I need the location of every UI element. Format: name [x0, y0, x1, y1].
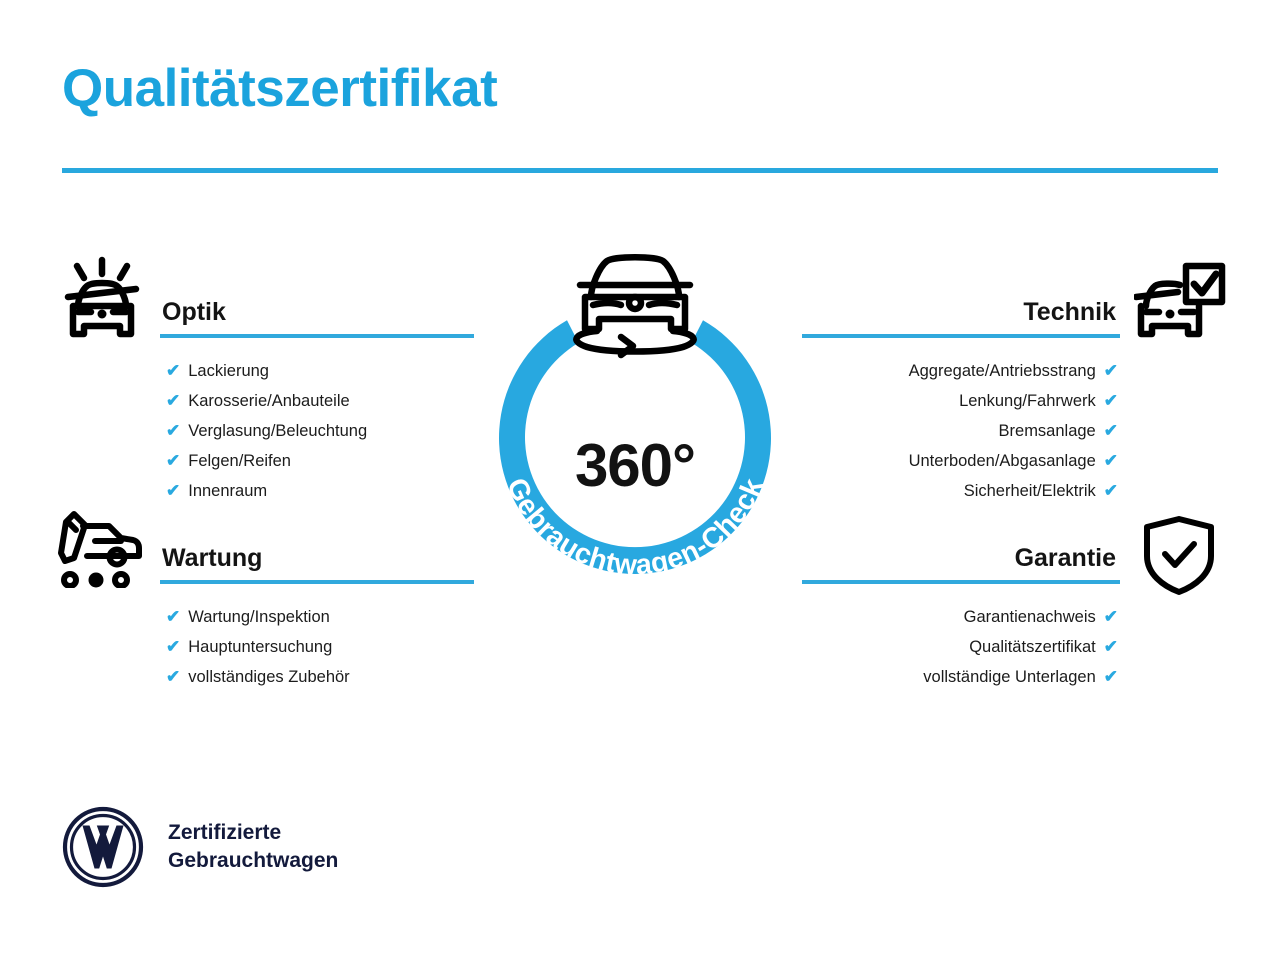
check-icon: ✔ — [166, 602, 180, 632]
list-item: ✔vollständiges Zubehör — [158, 662, 578, 692]
section-divider-technik — [802, 334, 1120, 338]
list-item: Lenkung/Fahrwerk✔ — [700, 386, 1120, 416]
list-item-label: Qualitätszertifikat — [969, 632, 1096, 662]
list-item: Qualitätszertifikat✔ — [700, 632, 1120, 662]
checklist-wartung: ✔Wartung/Inspektion ✔Hauptuntersuchung ✔… — [158, 602, 578, 692]
page-title: Qualitätszertifikat — [62, 60, 497, 118]
check-icon: ✔ — [1104, 602, 1118, 632]
section-header-garantie: Garantie — [700, 542, 1120, 588]
check-icon: ✔ — [166, 446, 180, 476]
section-header-technik: Technik — [700, 296, 1120, 342]
section-title-garantie: Garantie — [700, 542, 1120, 574]
list-item: ✔Karosserie/Anbauteile — [158, 386, 578, 416]
list-item: ✔Verglasung/Beleuchtung — [158, 416, 578, 446]
check-icon: ✔ — [1104, 386, 1118, 416]
check-icon: ✔ — [1104, 416, 1118, 446]
list-item-label: Aggregate/Antriebsstrang — [909, 356, 1096, 386]
list-item: Bremsanlage✔ — [700, 416, 1120, 446]
car-wrench-icon — [57, 508, 145, 593]
check-icon: ✔ — [1104, 356, 1118, 386]
list-item: ✔Felgen/Reifen — [158, 446, 578, 476]
footer-line-2: Gebrauchtwagen — [168, 847, 338, 875]
list-item-label: Karosserie/Anbauteile — [188, 386, 349, 416]
section-header-wartung: Wartung — [158, 542, 578, 588]
list-item-label: Bremsanlage — [999, 416, 1096, 446]
shield-check-icon — [1141, 514, 1217, 601]
check-icon: ✔ — [1104, 632, 1118, 662]
check-icon: ✔ — [166, 386, 180, 416]
list-item-label: Unterboden/Abgasanlage — [909, 446, 1096, 476]
list-item-label: vollständiges Zubehör — [188, 662, 349, 692]
section-wartung: Wartung ✔Wartung/Inspektion ✔Hauptunters… — [158, 542, 578, 692]
list-item: ✔Hauptuntersuchung — [158, 632, 578, 662]
list-item-label: Verglasung/Beleuchtung — [188, 416, 367, 446]
list-item: Sicherheit/Elektrik✔ — [700, 476, 1120, 506]
check-icon: ✔ — [1104, 662, 1118, 692]
section-title-wartung: Wartung — [158, 542, 578, 574]
list-item: Garantienachweis✔ — [700, 602, 1120, 632]
list-item: Unterboden/Abgasanlage✔ — [700, 446, 1120, 476]
check-icon: ✔ — [166, 476, 180, 506]
section-technik: Technik Aggregate/Antriebsstrang✔ Lenkun… — [700, 296, 1120, 506]
list-item: ✔Innenraum — [158, 476, 578, 506]
section-divider-optik — [160, 334, 474, 338]
checklist-technik: Aggregate/Antriebsstrang✔ Lenkung/Fahrwe… — [700, 356, 1120, 506]
list-item-label: Lenkung/Fahrwerk — [959, 386, 1096, 416]
car-checkbox-icon — [1134, 262, 1226, 347]
list-item: ✔Lackierung — [158, 356, 578, 386]
section-divider-wartung — [160, 580, 474, 584]
list-item-label: Lackierung — [188, 356, 269, 386]
list-item: Aggregate/Antriebsstrang✔ — [700, 356, 1120, 386]
section-header-optik: Optik — [158, 296, 578, 342]
check-icon: ✔ — [166, 416, 180, 446]
checklist-optik: ✔Lackierung ✔Karosserie/Anbauteile ✔Verg… — [158, 356, 578, 506]
footer-lockup: Zertifizierte Gebrauchtwagen — [62, 806, 338, 888]
volkswagen-logo — [62, 806, 144, 888]
car-rotate-icon — [555, 245, 715, 360]
list-item-label: Innenraum — [188, 476, 267, 506]
section-garantie: Garantie Garantienachweis✔ Qualitätszert… — [700, 542, 1120, 692]
list-item-label: Sicherheit/Elektrik — [964, 476, 1096, 506]
check-icon: ✔ — [1104, 446, 1118, 476]
check-icon: ✔ — [1104, 476, 1118, 506]
check-icon: ✔ — [166, 356, 180, 386]
section-optik: Optik ✔Lackierung ✔Karosserie/Anbauteile… — [158, 296, 578, 506]
list-item-label: Felgen/Reifen — [188, 446, 291, 476]
list-item-label: vollständige Unterlagen — [923, 662, 1095, 692]
list-item: vollständige Unterlagen✔ — [700, 662, 1120, 692]
section-divider-garantie — [802, 580, 1120, 584]
list-item-label: Garantienachweis — [964, 602, 1096, 632]
header-divider — [62, 168, 1218, 173]
checklist-garantie: Garantienachweis✔ Qualitätszertifikat✔ v… — [700, 602, 1120, 692]
list-item-label: Wartung/Inspektion — [188, 602, 330, 632]
section-title-technik: Technik — [700, 296, 1120, 328]
footer-text: Zertifizierte Gebrauchtwagen — [168, 819, 338, 875]
section-title-optik: Optik — [158, 296, 578, 328]
check-icon: ✔ — [166, 662, 180, 692]
footer-line-1: Zertifizierte — [168, 819, 338, 847]
check-icon: ✔ — [166, 632, 180, 662]
car-polish-icon — [60, 256, 144, 349]
list-item-label: Hauptuntersuchung — [188, 632, 332, 662]
list-item: ✔Wartung/Inspektion — [158, 602, 578, 632]
